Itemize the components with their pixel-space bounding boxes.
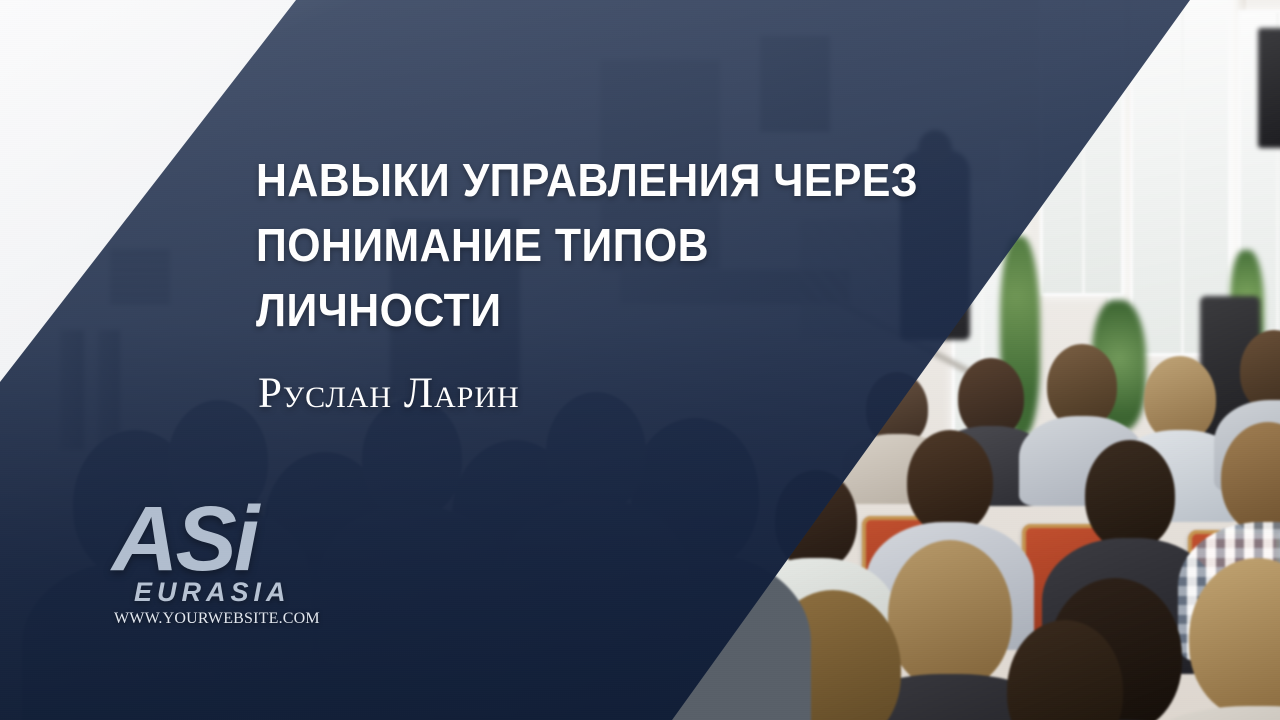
av-equipment (1258, 28, 1280, 148)
title-line-1: НАВЫКИ УПРАВЛЕНИЯ ЧЕРЕЗ (256, 148, 926, 213)
logo-subtitle: EURASIA (134, 577, 342, 608)
audience-person (1000, 620, 1130, 720)
title-block: НАВЫКИ УПРАВЛЕНИЯ ЧЕРЕЗ ПОНИМАНИЕ ТИПОВ … (256, 148, 976, 343)
speaker-name: Руслан Ларин (258, 372, 520, 415)
slide-canvas: НАВЫКИ УПРАВЛЕНИЯ ЧЕРЕЗ ПОНИМАНИЕ ТИПОВ … (0, 0, 1280, 720)
title-line-3: ЛИЧНОСТИ (256, 278, 926, 343)
audience-person (1182, 558, 1280, 720)
logo-wordmark: ASi (112, 498, 342, 581)
logo-website-url: WWW.YOURWEBSITE.COM (114, 610, 342, 628)
title-line-2: ПОНИМАНИЕ ТИПОВ (256, 213, 926, 278)
asi-eurasia-logo: ASi EURASIA WWW.YOURWEBSITE.COM (112, 498, 342, 628)
